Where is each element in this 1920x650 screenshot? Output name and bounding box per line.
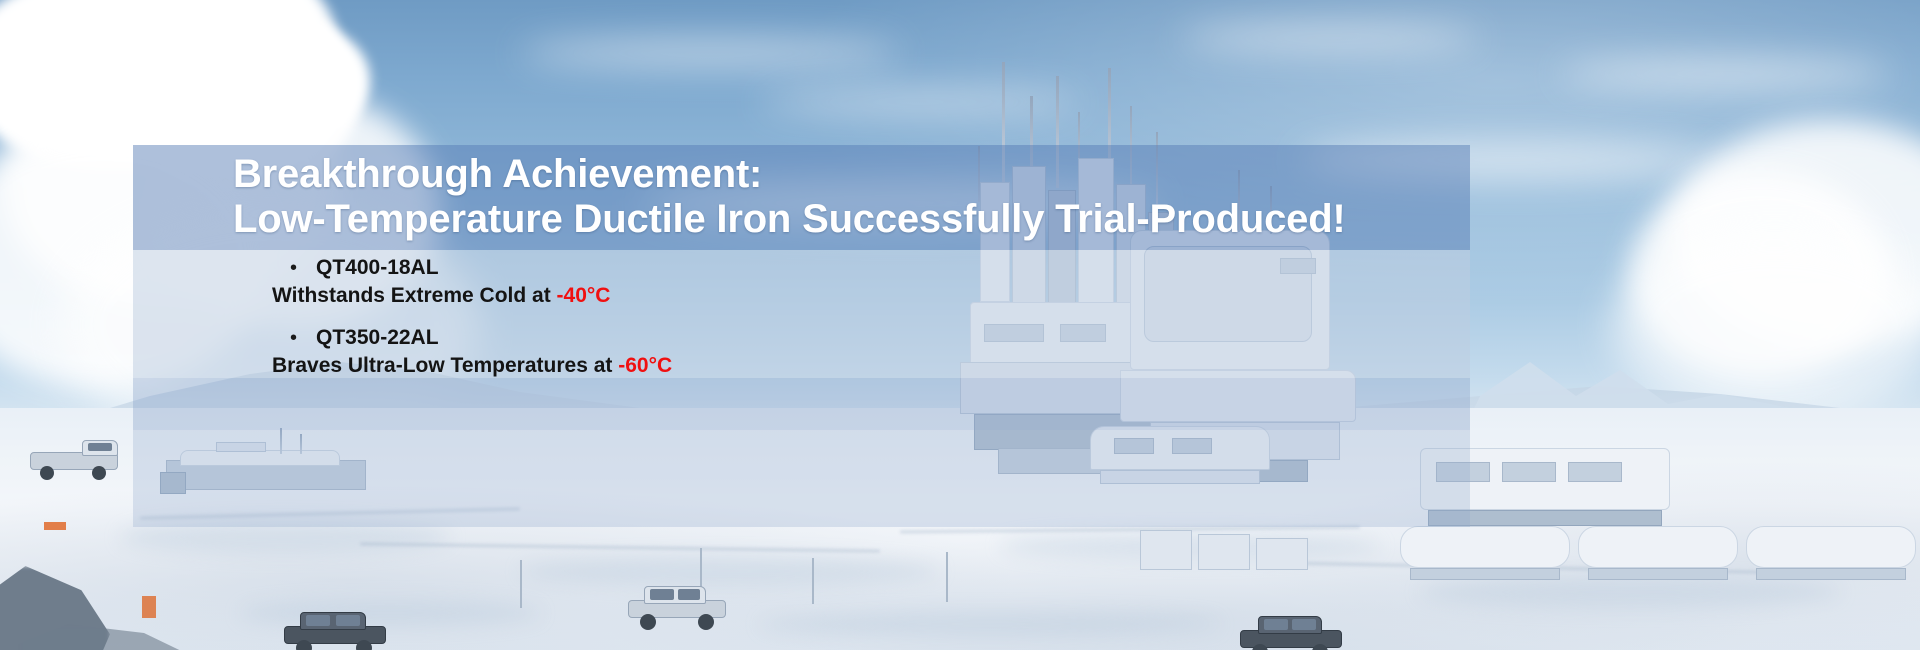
headline-line-1: Breakthrough Achievement: <box>233 155 1473 193</box>
headline-line-2: Low-Temperature Ductile Iron Successfull… <box>233 200 1473 238</box>
suv-center <box>628 586 728 626</box>
marker-flag-mid <box>142 596 156 618</box>
grade-description-qt400: Withstands Extreme Cold at -40°C <box>272 283 1380 309</box>
bullet-item-qt400: • QT400-18AL Withstands Extreme Cold at … <box>280 255 1380 309</box>
grade-code-qt400: QT400-18AL <box>316 255 439 281</box>
temperature-value-qt350: -60°C <box>618 354 672 377</box>
footer-overlay-panel <box>133 430 1470 527</box>
marker-flag-left <box>44 522 66 530</box>
headline-block: Breakthrough Achievement: Low-Temperatur… <box>233 155 1473 238</box>
description-text-qt350: Braves Ultra-Low Temperatures at <box>272 354 618 377</box>
storage-tank-row <box>1140 530 1320 574</box>
promo-banner: Breakthrough Achievement: Low-Temperatur… <box>0 0 1920 650</box>
grade-code-qt350: QT350-22AL <box>316 325 439 351</box>
bullet-dot-icon: • <box>284 255 316 281</box>
left-snow-truck <box>30 440 120 476</box>
bullet-item-qt350: • QT350-22AL Braves Ultra-Low Temperatur… <box>280 325 1380 379</box>
grade-description-qt350: Braves Ultra-Low Temperatures at -60°C <box>272 353 1380 379</box>
suv-bottom-left <box>284 612 388 650</box>
bullet-dot-icon: • <box>284 325 316 351</box>
suv-bottom-right <box>1240 616 1344 650</box>
bullet-list: • QT400-18AL Withstands Extreme Cold at … <box>280 255 1380 395</box>
temperature-value-qt400: -40°C <box>557 284 611 307</box>
description-text-qt400: Withstands Extreme Cold at <box>272 284 557 307</box>
